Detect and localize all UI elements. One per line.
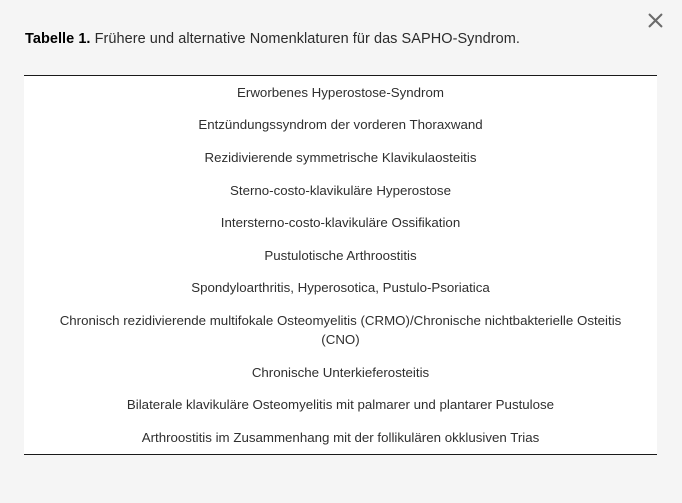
table-cell: Pustulotische Arthroostitis [24, 239, 657, 272]
table-cell: Chronisch rezidivierende multifokale Ost… [24, 304, 657, 356]
table-cell: Entzündungssyndrom der vorderen Thoraxwa… [24, 109, 657, 142]
table-row: Arthroostitis im Zusammenhang mit der fo… [24, 421, 657, 454]
table-cell: Rezidivierende symmetrische Klavikulaost… [24, 141, 657, 174]
table-row: Spondyloarthritis, Hyperosotica, Pustulo… [24, 272, 657, 305]
table-row: Rezidivierende symmetrische Klavikulaost… [24, 141, 657, 174]
table-row: Sterno-costo-klavikuläre Hyperostose [24, 174, 657, 207]
table-modal: Tabelle 1. Frühere und alternative Nomen… [0, 0, 682, 503]
table-cell: Spondyloarthritis, Hyperosotica, Pustulo… [24, 272, 657, 305]
table-caption-label: Tabelle 1. [25, 31, 91, 47]
table-cell: Chronische Unterkieferosteitis [24, 356, 657, 389]
nomenclature-table-body: Erworbenes Hyperostose-Syndrom Entzündun… [24, 76, 657, 454]
close-icon[interactable] [642, 7, 668, 33]
table-cell: Arthroostitis im Zusammenhang mit der fo… [24, 421, 657, 454]
table-cell: Sterno-costo-klavikuläre Hyperostose [24, 174, 657, 207]
table-row: Entzündungssyndrom der vorderen Thoraxwa… [24, 109, 657, 142]
table-row: Erworbenes Hyperostose-Syndrom [24, 76, 657, 109]
table-cell: Erworbenes Hyperostose-Syndrom [24, 76, 657, 109]
table-row: Intersterno-costo-klavikuläre Ossifikati… [24, 206, 657, 239]
table-row: Pustulotische Arthroostitis [24, 239, 657, 272]
nomenclature-table-container: Erworbenes Hyperostose-Syndrom Entzündun… [24, 75, 657, 455]
close-icon-glyph [648, 13, 663, 28]
table-caption-text: Frühere und alternative Nomenklaturen fü… [91, 31, 520, 47]
table-row: Chronisch rezidivierende multifokale Ost… [24, 304, 657, 356]
table-cell: Bilaterale klavikuläre Osteomyelitis mit… [24, 388, 657, 421]
nomenclature-table: Erworbenes Hyperostose-Syndrom Entzündun… [24, 76, 657, 454]
table-cell: Intersterno-costo-klavikuläre Ossifikati… [24, 206, 657, 239]
table-row: Chronische Unterkieferosteitis [24, 356, 657, 389]
table-row: Bilaterale klavikuläre Osteomyelitis mit… [24, 388, 657, 421]
table-caption: Tabelle 1. Frühere und alternative Nomen… [25, 29, 642, 49]
